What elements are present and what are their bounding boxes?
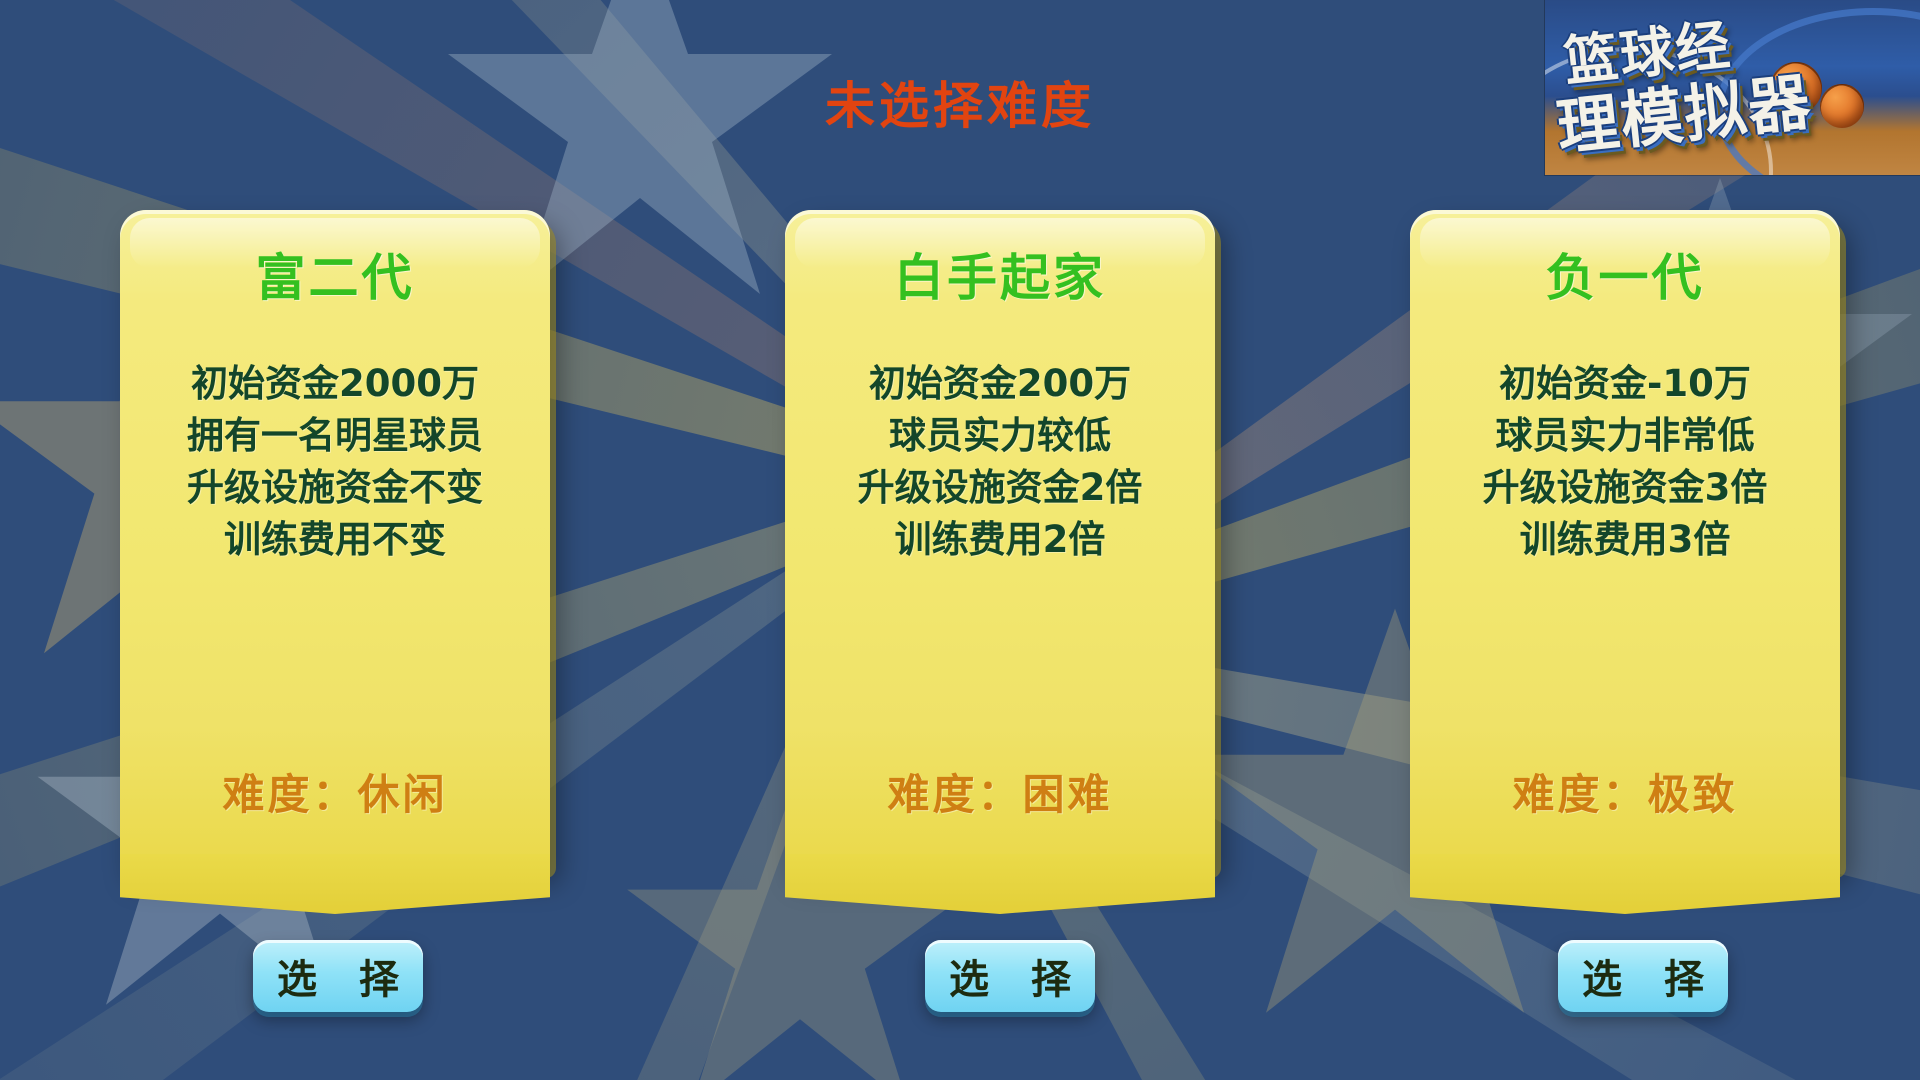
card-difficulty-label: 难度：极致 [1410,761,1840,822]
card-detail-line: 训练费用2倍 [785,514,1215,566]
card-detail-line: 升级设施资金2倍 [785,462,1215,514]
difficulty-column-0: 富二代 初始资金2000万 拥有一名明星球员 升级设施资金不变 训练费用不变 难… [120,210,550,870]
card-difficulty-label: 难度：休闲 [120,761,550,822]
card-title: 富二代 [120,210,550,310]
page-title: 未选择难度 [0,66,1920,138]
card-body: 初始资金-10万 球员实力非常低 升级设施资金3倍 训练费用3倍 [1410,358,1840,566]
card-body: 初始资金200万 球员实力较低 升级设施资金2倍 训练费用2倍 [785,358,1215,566]
card-detail-line: 初始资金200万 [785,358,1215,410]
card-difficulty-label: 难度：困难 [785,761,1215,822]
card-detail-line: 训练费用3倍 [1410,514,1840,566]
card-detail-line: 训练费用不变 [120,514,550,566]
card-detail-line: 球员实力非常低 [1410,410,1840,462]
card-body: 初始资金2000万 拥有一名明星球员 升级设施资金不变 训练费用不变 [120,358,550,566]
card-detail-line: 拥有一名明星球员 [120,410,550,462]
card-detail-line: 升级设施资金不变 [120,462,550,514]
card-detail-line: 初始资金-10万 [1410,358,1840,410]
difficulty-column-1: 白手起家 初始资金200万 球员实力较低 升级设施资金2倍 训练费用2倍 难度：… [785,210,1215,870]
card-detail-line: 球员实力较低 [785,410,1215,462]
difficulty-card-rich-second-generation[interactable]: 富二代 初始资金2000万 拥有一名明星球员 升级设施资金不变 训练费用不变 难… [120,210,550,870]
card-title: 负一代 [1410,210,1840,310]
difficulty-card-self-made[interactable]: 白手起家 初始资金200万 球员实力较低 升级设施资金2倍 训练费用2倍 难度：… [785,210,1215,870]
difficulty-column-2: 负一代 初始资金-10万 球员实力非常低 升级设施资金3倍 训练费用3倍 难度：… [1410,210,1840,870]
card-title: 白手起家 [785,210,1215,310]
card-detail-line: 升级设施资金3倍 [1410,462,1840,514]
card-detail-line: 初始资金2000万 [120,358,550,410]
select-button-1[interactable]: 选 择 [925,940,1095,1012]
select-button-0[interactable]: 选 择 [253,940,423,1012]
select-button-2[interactable]: 选 择 [1558,940,1728,1012]
difficulty-card-negative-generation[interactable]: 负一代 初始资金-10万 球员实力非常低 升级设施资金3倍 训练费用3倍 难度：… [1410,210,1840,870]
